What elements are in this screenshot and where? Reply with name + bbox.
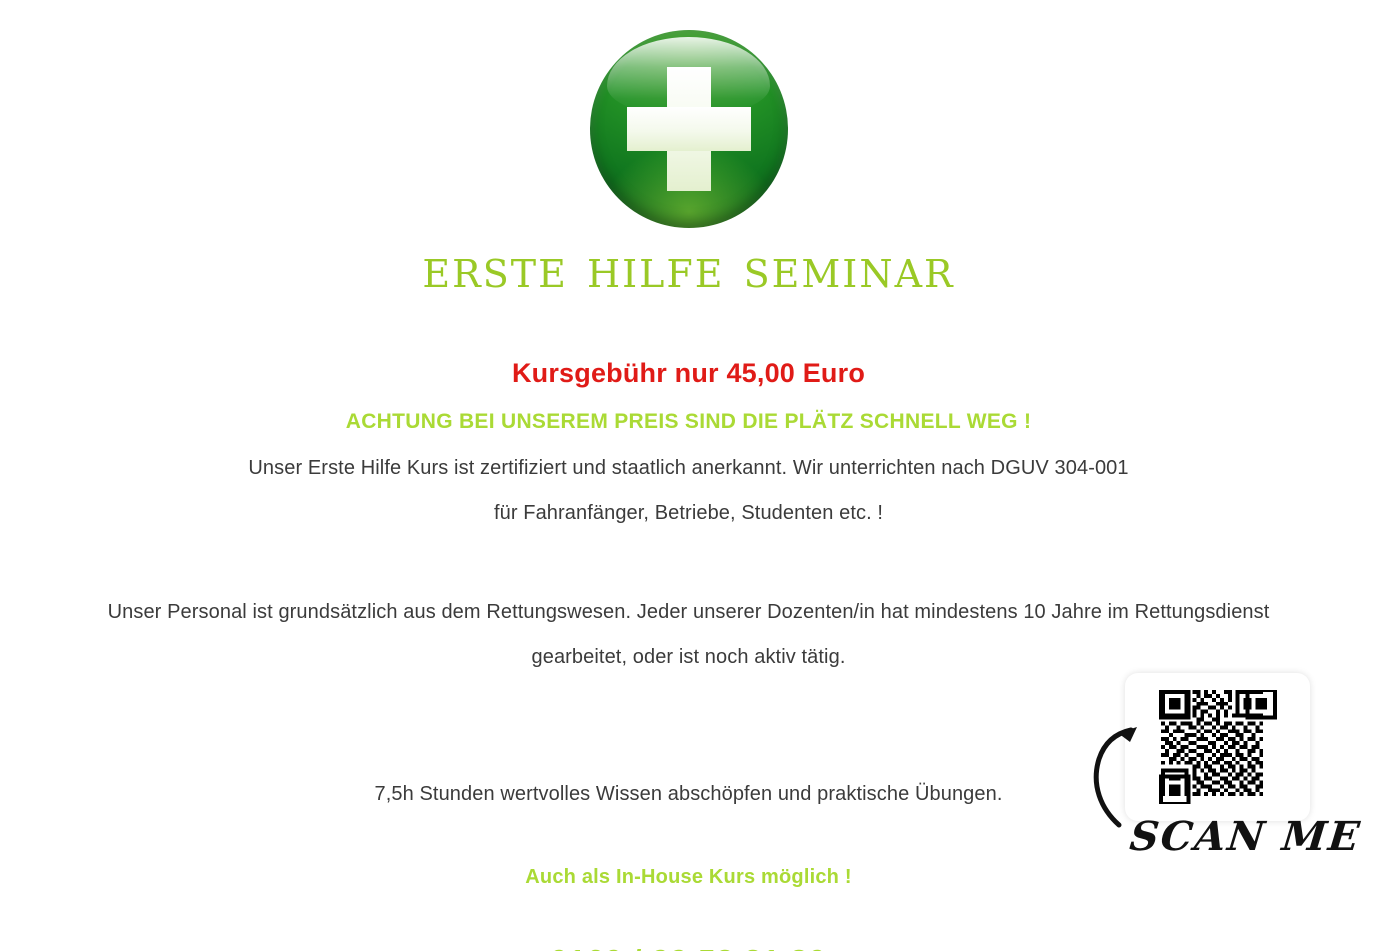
cross-horizontal-bar: [627, 107, 751, 151]
first-aid-cross-icon: [590, 30, 788, 228]
white-cross-icon: [627, 67, 751, 191]
logo-wordmark: Erste Hilfe Seminar: [0, 242, 1377, 296]
attention-headline: ACHTUNG BEI UNSEREM PREIS SIND DIE PLÄTZ…: [0, 410, 1377, 434]
staff-line-1: Unser Personal ist grundsätzlich aus dem…: [0, 601, 1377, 624]
qr-scan-block[interactable]: SCAN ME: [1085, 665, 1335, 880]
phone-number: 0160 / 99 53 21 80: [0, 943, 1377, 951]
logo-block: Erste Hilfe Seminar: [0, 30, 1377, 296]
qr-code-card[interactable]: [1125, 673, 1310, 821]
spacer-1: [0, 547, 1377, 601]
price-headline: Kursgebühr nur 45,00 Euro: [0, 358, 1377, 389]
certification-line-2: für Fahranfänger, Betriebe, Studenten et…: [0, 502, 1377, 525]
qr-code-icon[interactable]: [1147, 690, 1289, 804]
certification-line-1: Unser Erste Hilfe Kurs ist zertifiziert …: [0, 457, 1377, 480]
scan-me-label: SCAN ME: [1128, 817, 1332, 857]
spacer-4: [0, 889, 1377, 943]
flyer-page: Erste Hilfe Seminar Kursgebühr nur 45,00…: [0, 0, 1377, 951]
